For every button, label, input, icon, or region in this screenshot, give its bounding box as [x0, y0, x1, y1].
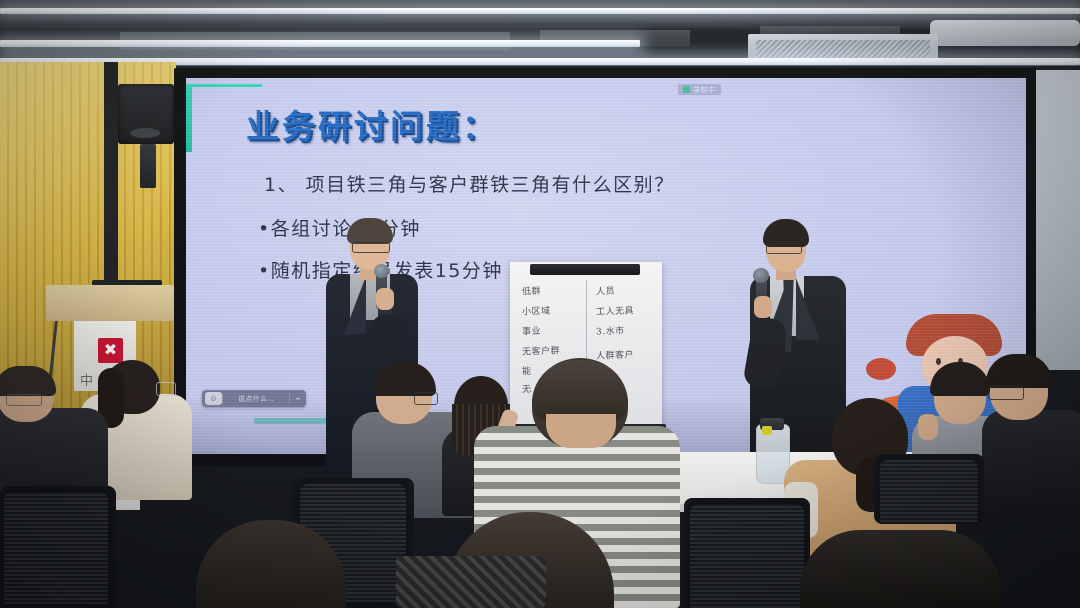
- slide-accent-line: [186, 84, 262, 87]
- slide-accent-bar: [186, 84, 192, 152]
- attendee-10-head: [196, 520, 346, 608]
- flipchart-note: 小区域: [522, 304, 551, 318]
- presenter-left-hand: [376, 288, 394, 310]
- presenter-right-glasses: [766, 243, 802, 254]
- microphone-head-icon: [753, 268, 769, 283]
- flipchart-note: 工人无具: [596, 303, 634, 317]
- office-chair-right: [690, 504, 804, 608]
- ceiling-light-strip-1: [0, 8, 1080, 14]
- attendee-8-body: [982, 410, 1080, 520]
- microphone-head-icon: [374, 264, 389, 278]
- attendee-5-neck: [546, 414, 616, 448]
- attendee-8-glasses: [988, 386, 1024, 400]
- flipchart-note: 3.水市: [596, 324, 625, 338]
- attendee-2-glasses: [156, 382, 176, 396]
- patterned-bag: [396, 556, 546, 608]
- water-bottle-tab: [762, 426, 772, 435]
- attendee-3-hair: [372, 362, 436, 396]
- attendee-1-glasses: [6, 394, 42, 406]
- slide-line-1: 1、 项目铁三角与客户群铁三角有什么区别？: [264, 170, 675, 197]
- flipchart-note: 低群: [522, 284, 541, 298]
- slide-title: 业务研讨问题：: [246, 100, 498, 148]
- recording-dot-icon: [683, 86, 690, 93]
- attendee-foreground-right: [800, 530, 1000, 608]
- cartoon-hand: [866, 358, 896, 380]
- ceiling-duct: [930, 20, 1080, 46]
- ac-vent-grill: [756, 40, 930, 60]
- flipchart-note: 事业: [522, 324, 541, 338]
- podium: [46, 285, 174, 321]
- attendee-8-hair: [986, 354, 1052, 388]
- attendee-7-hair: [930, 362, 990, 396]
- attendee-foreground-right-head: [800, 530, 1000, 608]
- speaker-cone: [130, 128, 160, 138]
- recording-watermark-text: 录制中: [693, 85, 716, 95]
- presenter-left-glasses: [352, 242, 390, 253]
- cartoon-eye-left: [936, 358, 941, 365]
- attendee-8: [982, 360, 1080, 520]
- ceiling-light-strip-2: [0, 40, 640, 47]
- flipchart-note: 人员: [596, 284, 615, 298]
- attendee-10: [196, 520, 346, 608]
- meeting-room-photo: ✖ 中 业务研讨问题： 1、 项目铁三角与客户群铁三角有什么区别？ •各组讨论1…: [0, 0, 1080, 608]
- recording-watermark: 录制中: [678, 84, 721, 95]
- presenter-left-hair: [347, 218, 393, 244]
- office-chair-far-left: [4, 492, 108, 604]
- flipchart-clamp: [530, 264, 640, 275]
- office-chair-far-right: [880, 460, 978, 522]
- attendee-3-glasses: [414, 392, 438, 405]
- speaker-mount-bracket: [140, 144, 156, 188]
- flipchart-note: 无客户群: [522, 343, 560, 357]
- attendee-1-hair: [0, 366, 56, 396]
- right-wall: [1036, 70, 1080, 370]
- presenter-right-hand: [754, 296, 772, 318]
- logo-cross-icon: ✖: [104, 343, 117, 359]
